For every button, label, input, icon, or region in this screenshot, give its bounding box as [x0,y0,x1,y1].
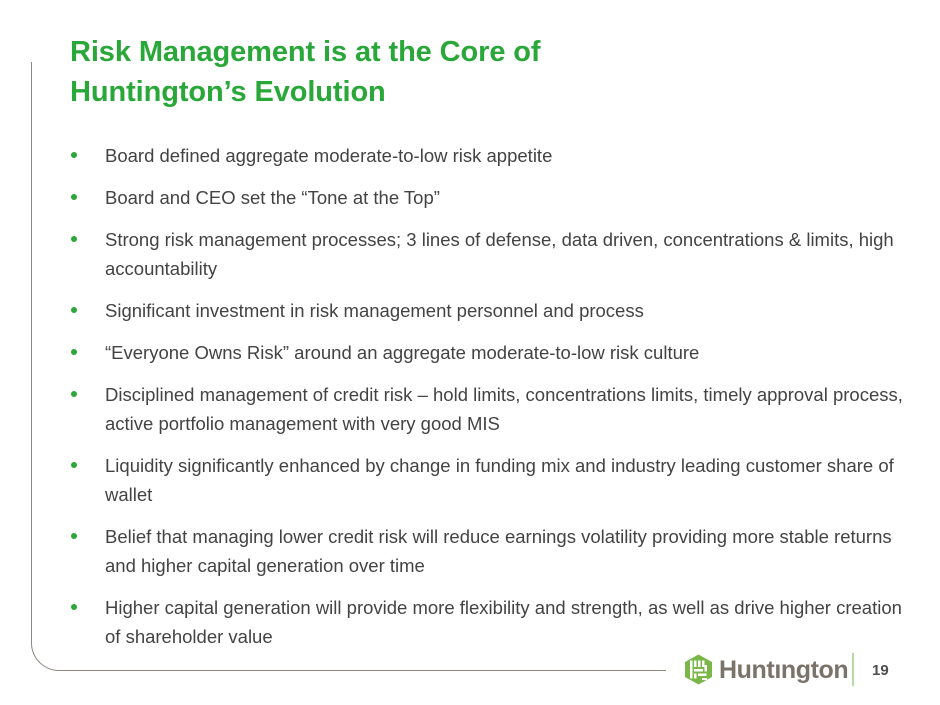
list-item: Higher capital generation will provide m… [68,593,908,651]
list-item: Belief that managing lower credit risk w… [68,522,908,580]
huntington-logo: Huntıngton [684,654,848,685]
list-item-text: “Everyone Owns Risk” around an aggregate… [105,342,699,363]
list-item-text: Disciplined management of credit risk – … [105,384,903,434]
list-item-text: Higher capital generation will provide m… [105,597,902,647]
page-number: 19 [872,662,889,679]
list-item-text: Board and CEO set the “Tone at the Top” [105,187,440,208]
list-item: Significant investment in risk managemen… [68,296,908,325]
list-item: “Everyone Owns Risk” around an aggregate… [68,338,908,367]
list-item: Board defined aggregate moderate-to-low … [68,141,908,170]
huntington-hexagon-icon [684,654,713,685]
list-item-text: Board defined aggregate moderate-to-low … [105,145,552,166]
list-item: Board and CEO set the “Tone at the Top” [68,183,908,212]
bullet-dot-icon [71,194,77,200]
page-title-line-1: Risk Management is at the Core of [70,32,770,72]
list-item-text: Strong risk management processes; 3 line… [105,229,894,279]
huntington-wordmark: Huntıngton [719,658,848,683]
bullet-dot-icon [71,307,77,313]
list-item-text: Liquidity significantly enhanced by chan… [105,455,894,505]
page-title-line-2: Huntington’s Evolution [70,72,770,112]
page-title: Risk Management is at the Core of Huntin… [70,32,770,112]
bullet-list: Board defined aggregate moderate-to-low … [68,141,908,651]
list-item: Disciplined management of credit risk – … [68,380,908,438]
list-item-text: Belief that managing lower credit risk w… [105,526,892,576]
bullet-dot-icon [71,462,77,468]
footer-divider [852,653,854,686]
bullet-dot-icon [71,533,77,539]
list-item-text: Significant investment in risk managemen… [105,300,644,321]
bullet-dot-icon [71,349,77,355]
bullet-dot-icon [71,391,77,397]
bullet-dot-icon [71,604,77,610]
bullet-dot-icon [71,236,77,242]
bullet-dot-icon [71,152,77,158]
list-item: Strong risk management processes; 3 line… [68,225,908,283]
list-item: Liquidity significantly enhanced by chan… [68,451,908,509]
slide: Risk Management is at the Core of Huntin… [0,0,940,705]
